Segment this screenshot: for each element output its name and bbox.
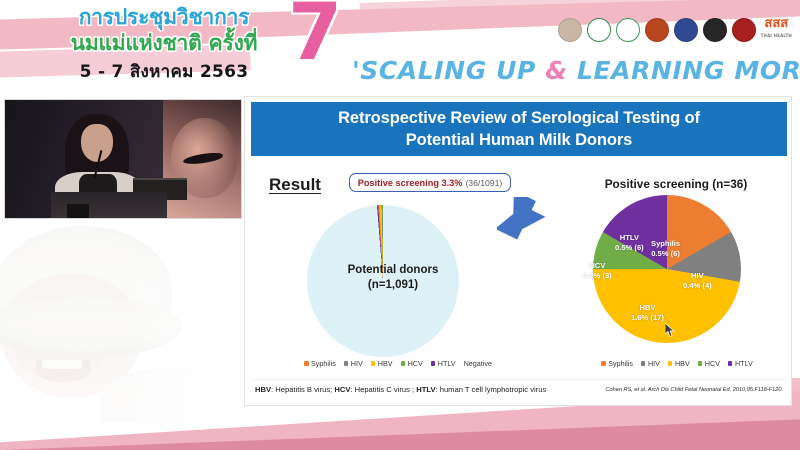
- royal-emblem-logo: [558, 18, 582, 42]
- presentation-slide: Retrospective Review of Serological Test…: [244, 96, 792, 406]
- legend-label-hiv: HIV: [648, 359, 660, 368]
- legend-label-hcv: HCV: [408, 359, 423, 368]
- legend-label-hbv: HBV: [675, 359, 690, 368]
- baby-background-photo: [0, 218, 244, 423]
- legend-item-syphilis: Syphilis: [304, 359, 336, 368]
- slice-label-htlv-value: 0.5% (6): [615, 243, 644, 253]
- gold-crown-logo: [645, 18, 669, 42]
- legend-item-hcv: HCV: [698, 359, 720, 368]
- legend-swatch-hcv-icon: [401, 361, 406, 366]
- edition-numeral: 7: [288, 0, 342, 72]
- legend-item-htlv: HTLV: [431, 359, 456, 368]
- legend-swatch-syphilis-icon: [601, 361, 606, 366]
- baby-photo-fade-right: [124, 218, 244, 423]
- legend-label-negative: Negative: [464, 359, 492, 368]
- slice-label-hcv-value: 0.3% (3): [583, 271, 612, 281]
- callout-secondary-text: (36/1091): [465, 178, 502, 188]
- legend-item-hbv: HBV: [371, 359, 393, 368]
- pie-slice-label-htlv: HTLV 0.5% (6): [615, 233, 644, 253]
- potential-donors-label-line-2: (n=1,091): [271, 278, 515, 293]
- flow-arrow-icon: [497, 197, 559, 249]
- legend-item-hiv: HIV: [641, 359, 660, 368]
- legend-swatch-hbv-icon: [668, 361, 673, 366]
- potential-donors-pie-chart: Potential donors (n=1,091): [271, 205, 515, 365]
- thaihealth-logo: สสส THAI HEALTH: [761, 18, 792, 42]
- legend-swatch-hiv-icon: [641, 361, 646, 366]
- slice-label-hbv-value: 1.6% (17): [631, 313, 664, 323]
- legend-label-syphilis: Syphilis: [608, 359, 633, 368]
- legend-item-hcv: HCV: [401, 359, 423, 368]
- callout-primary-text: Positive screening 3.3%: [358, 178, 463, 188]
- positive-screening-chart-title: Positive screening (n=36): [563, 177, 789, 191]
- royal-garuda-logo: [674, 18, 698, 42]
- positive-screening-pie-body: [593, 195, 741, 343]
- legend-swatch-hiv-icon: [344, 361, 349, 366]
- slide-footnote: HBV: Hepatitis B virus; HCV: Hepatitis C…: [251, 379, 787, 399]
- positive-screening-pie-chart: Syphilis 0.5% (6) HIV 0.4% (4) HBV 1.6% …: [579, 195, 755, 355]
- slice-label-hcv-name: HCV: [583, 261, 612, 271]
- legend-item-hiv: HIV: [344, 359, 363, 368]
- podium-plate: [67, 204, 89, 218]
- thai-title-line-1: การประชุมวิชาการ: [14, 4, 314, 30]
- legend-swatch-syphilis-icon: [304, 361, 309, 366]
- legend-label-hcv: HCV: [705, 359, 720, 368]
- legend-item-negative: Negative: [464, 359, 492, 368]
- result-heading: Result: [269, 175, 321, 195]
- green-health-logo-2: [616, 18, 640, 42]
- sponsor-logo-strip: สสส THAI HEALTH: [558, 18, 792, 42]
- abbreviation-definitions: HBV: Hepatitis B virus; HCV: Hepatitis C…: [255, 385, 546, 394]
- black-seal-logo: [703, 18, 727, 42]
- legend-potential-donors: SyphilisHIVHBVHCVHTLVNegative: [279, 359, 517, 368]
- legend-label-hiv: HIV: [351, 359, 363, 368]
- speaker-video-overlay[interactable]: [5, 100, 241, 218]
- pie-slice-label-syphilis: Syphilis 0.5% (6): [651, 239, 680, 259]
- slice-label-hiv-name: HIV: [683, 271, 712, 281]
- legend-item-hbv: HBV: [668, 359, 690, 368]
- legend-swatch-htlv-icon: [728, 361, 733, 366]
- thaihealth-logo-text: สสส: [764, 16, 788, 31]
- thai-title-line-2: นมแม่แห่งชาติ ครั้งที่: [14, 30, 314, 56]
- tagline-ampersand: &: [545, 56, 567, 85]
- legend-label-htlv: HTLV: [438, 359, 456, 368]
- slice-label-hiv-value: 0.4% (4): [683, 281, 712, 291]
- slide-title-line-2: Potential Human Milk Donors: [406, 129, 633, 151]
- legend-swatch-htlv-icon: [431, 361, 436, 366]
- conference-header-banner: การประชุมวิชาการ นมแม่แห่งชาติ ครั้งที่ …: [0, 0, 800, 92]
- pie-slice-label-hcv: HCV 0.3% (3): [583, 261, 612, 281]
- legend-item-syphilis: Syphilis: [601, 359, 633, 368]
- red-seal-logo: [732, 18, 756, 42]
- slide-screenshot: การประชุมวิชาการ นมแม่แห่งชาติ ครั้งที่ …: [0, 0, 800, 450]
- slide-title: Retrospective Review of Serological Test…: [251, 102, 787, 156]
- positive-screening-callout: Positive screening 3.3% (36/1091): [349, 173, 511, 192]
- mouse-cursor-icon: [665, 323, 676, 338]
- speaker-face: [81, 124, 113, 162]
- pie-slice-label-hbv: HBV 1.6% (17): [631, 303, 664, 323]
- tagline-part-2: LEARNING MORE': [568, 56, 800, 85]
- conference-thai-title: การประชุมวิชาการ นมแม่แห่งชาติ ครั้งที่ …: [14, 4, 314, 85]
- legend-label-hbv: HBV: [378, 359, 393, 368]
- pie-slice-label-hiv: HIV 0.4% (4): [683, 271, 712, 291]
- slice-label-syphilis-name: Syphilis: [651, 239, 680, 249]
- conference-tagline: 'SCALING UP & LEARNING MORE': [352, 56, 800, 86]
- thaihealth-logo-subtext: THAI HEALTH: [761, 30, 792, 42]
- legend-label-htlv: HTLV: [735, 359, 753, 368]
- green-health-logo-1: [587, 18, 611, 42]
- potential-donors-label-line-1: Potential donors: [271, 263, 515, 278]
- slice-label-htlv-name: HTLV: [615, 233, 644, 243]
- conference-date: 5 - 7 สิงหาคม 2563: [14, 58, 314, 85]
- legend-swatch-hbv-icon: [371, 361, 376, 366]
- legend-swatch-hcv-icon: [698, 361, 703, 366]
- slice-label-syphilis-value: 0.5% (6): [651, 249, 680, 259]
- source-citation: Cohen RS, et al. Arch Dis Child Fetal Ne…: [605, 387, 783, 393]
- slice-label-hbv-name: HBV: [631, 303, 664, 313]
- legend-label-syphilis: Syphilis: [311, 359, 336, 368]
- legend-item-htlv: HTLV: [728, 359, 753, 368]
- legend-positive-screening: SyphilisHIVHBVHCVHTLV: [575, 359, 779, 368]
- potential-donors-center-label: Potential donors (n=1,091): [271, 263, 515, 293]
- tagline-part-1: 'SCALING UP: [352, 56, 545, 85]
- slide-title-line-1: Retrospective Review of Serological Test…: [338, 107, 700, 129]
